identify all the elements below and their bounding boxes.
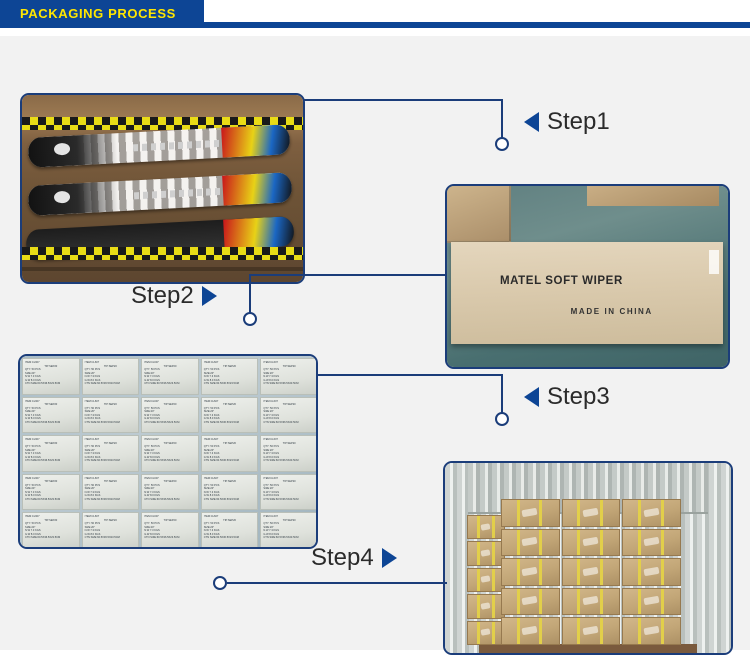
carton-unit: ITEM:CL607TIP:SEP20QTY: 50 PCSSIZE:20"N.… bbox=[260, 435, 318, 472]
wiper-blade-print bbox=[133, 140, 222, 152]
carton-unit: ITEM:CL607TIP:SEP20QTY: 50 PCSSIZE:20"N.… bbox=[22, 435, 80, 472]
triangle-left-icon bbox=[524, 387, 539, 407]
carton-unit: ITEM:CL607TIP:SEP20QTY: 50 PCSSIZE:20"N.… bbox=[141, 358, 199, 395]
diagram-canvas: MATEL SOFT WIPER MADE IN CHINA ITEM:CL60… bbox=[0, 36, 750, 650]
wiper-blade-nose bbox=[223, 216, 294, 250]
carton-grid: ITEM:CL607TIP:SEP20QTY: 50 PCSSIZE:20"N.… bbox=[22, 358, 318, 549]
carton-unit: ITEM:CL607TIP:SEP20QTY: 50 PCSSIZE:20"N.… bbox=[82, 435, 140, 472]
shipping-box bbox=[622, 588, 681, 616]
carton-label-line: CTN SIZE:60.5X36.5X23.5CM bbox=[204, 459, 256, 463]
background-carton-right bbox=[587, 186, 719, 206]
carton-unit: ITEM:CL607TIP:SEP20QTY: 50 PCSSIZE:20"N.… bbox=[82, 474, 140, 511]
carton-unit: ITEM:CL607TIP:SEP20QTY: 50 PCSSIZE:20"N.… bbox=[141, 435, 199, 472]
carton-label-line: CTN SIZE:60.5X36.5X23.5CM bbox=[263, 498, 315, 502]
carton-unit: ITEM:CL607TIP:SEP20QTY: 50 PCSSIZE:20"N.… bbox=[201, 512, 259, 549]
carton-label-line: CTN SIZE:60.5X36.5X23.5CM bbox=[85, 459, 137, 463]
carton-print-origin: MADE IN CHINA bbox=[571, 307, 653, 316]
photo-master-carton: MATEL SOFT WIPER MADE IN CHINA bbox=[445, 184, 730, 369]
carton-label-line: CTN SIZE:60.5X36.5X23.5CM bbox=[263, 459, 315, 463]
shipping-box-mark bbox=[480, 523, 490, 531]
shipping-box-mark bbox=[522, 626, 538, 636]
connector-4-horizontal bbox=[227, 582, 447, 584]
wiper-blade-tail bbox=[27, 181, 118, 216]
connector-node-2 bbox=[243, 312, 257, 326]
carton-unit: ITEM:CL607TIP:SEP20QTY: 50 PCSSIZE:20"N.… bbox=[22, 358, 80, 395]
carton-label-line: CTN SIZE:60.5X36.5X23.5CM bbox=[204, 421, 256, 425]
shipping-box-mark bbox=[583, 596, 599, 606]
connector-1-vertical bbox=[501, 99, 503, 140]
background-carton-left bbox=[447, 186, 511, 243]
header-rule bbox=[204, 22, 750, 28]
carton-unit: ITEM:CL607TIP:SEP20QTY: 50 PCSSIZE:20"N.… bbox=[260, 397, 318, 434]
carton-label-line: CTN SIZE:60.5X36.5X23.5CM bbox=[144, 536, 196, 540]
carton-label-line: CTN SIZE:60.5X36.5X23.5CM bbox=[263, 421, 315, 425]
carton-unit: ITEM:CL607TIP:SEP20QTY: 50 PCSSIZE:20"N.… bbox=[141, 397, 199, 434]
step-label-1: Step1 bbox=[524, 108, 610, 136]
shipping-box-mark bbox=[583, 567, 599, 577]
carton-label-line: CTN SIZE:60.5X36.5X23.5CM bbox=[263, 536, 315, 540]
shipping-box-mark bbox=[522, 567, 538, 577]
wiper-blade-tail bbox=[27, 133, 118, 168]
step-label-4: Step4 bbox=[311, 544, 397, 572]
shipping-box bbox=[622, 617, 681, 645]
carton-label-line: CTN SIZE:60.5X36.5X23.5CM bbox=[25, 498, 77, 502]
carton-unit: ITEM:CL607TIP:SEP20QTY: 50 PCSSIZE:20"N.… bbox=[22, 512, 80, 549]
carton-unit: ITEM:CL607TIP:SEP20QTY: 50 PCSSIZE:20"N.… bbox=[260, 358, 318, 395]
carton-unit: ITEM:CL607TIP:SEP20QTY: 50 PCSSIZE:20"N.… bbox=[141, 474, 199, 511]
shipping-box-mark bbox=[522, 596, 538, 606]
shipping-box bbox=[467, 568, 505, 592]
step-label-3-text: Step3 bbox=[547, 383, 610, 411]
carton-label-line: CTN SIZE:60.5X36.5X23.5CM bbox=[25, 382, 77, 386]
triangle-right-icon bbox=[202, 286, 217, 306]
shipping-box-mark bbox=[643, 626, 659, 636]
page-title: PACKAGING PROCESS bbox=[20, 4, 200, 24]
shipping-box-mark bbox=[583, 507, 599, 517]
carton-label-line: CTN SIZE:60.5X36.5X23.5CM bbox=[204, 536, 256, 540]
shipping-box bbox=[622, 529, 681, 557]
shipping-box-mark bbox=[583, 537, 599, 547]
wiper-blade-print bbox=[133, 188, 223, 200]
carton-label-line: CTN SIZE:60.5X36.5X23.5CM bbox=[263, 382, 315, 386]
shipping-box-stack-left bbox=[467, 515, 505, 645]
carton-unit: ITEM:CL607TIP:SEP20QTY: 50 PCSSIZE:20"N.… bbox=[22, 397, 80, 434]
photo-loaded-container bbox=[443, 461, 733, 655]
shipping-box bbox=[501, 588, 560, 616]
shipping-box-mark bbox=[643, 596, 659, 606]
connector-3-vertical bbox=[501, 374, 503, 415]
carton-unit: ITEM:CL607TIP:SEP20QTY: 50 PCSSIZE:20"N.… bbox=[260, 512, 318, 549]
shipping-box bbox=[562, 499, 621, 527]
shipping-box bbox=[562, 617, 621, 645]
carton-label-line: CTN SIZE:60.5X36.5X23.5CM bbox=[204, 382, 256, 386]
triangle-right-icon bbox=[382, 548, 397, 568]
shipping-box-mark bbox=[480, 602, 490, 610]
shipping-box-mark bbox=[522, 507, 538, 517]
shipping-box bbox=[501, 558, 560, 586]
shipping-box-stack-main bbox=[501, 499, 681, 645]
carton-label-line: CTN SIZE:60.5X36.5X23.5CM bbox=[85, 536, 137, 540]
wiper-blade-nose bbox=[221, 124, 291, 158]
carton-label-line: CTN SIZE:60.5X36.5X23.5CM bbox=[144, 382, 196, 386]
carton-unit: ITEM:CL607TIP:SEP20QTY: 50 PCSSIZE:20"N.… bbox=[201, 397, 259, 434]
shipping-box bbox=[622, 499, 681, 527]
carton-unit: ITEM:CL607TIP:SEP20QTY: 50 PCSSIZE:20"N.… bbox=[201, 435, 259, 472]
step-label-2: Step2 bbox=[131, 282, 217, 310]
connector-node-1 bbox=[495, 137, 509, 151]
step-label-4-text: Step4 bbox=[311, 544, 374, 572]
carton-label-line: CTN SIZE:60.5X36.5X23.5CM bbox=[85, 382, 137, 386]
shipping-box bbox=[501, 499, 560, 527]
carton-label-line: CTN SIZE:60.5X36.5X23.5CM bbox=[25, 421, 77, 425]
carton-label-line: CTN SIZE:60.5X36.5X23.5CM bbox=[85, 498, 137, 502]
carton-unit: ITEM:CL607TIP:SEP20QTY: 50 PCSSIZE:20"N.… bbox=[22, 474, 80, 511]
photo-stacked-cartons-image: ITEM:CL607TIP:SEP20QTY: 50 PCSSIZE:20"N.… bbox=[20, 356, 316, 547]
carton-unit: ITEM:CL607TIP:SEP20QTY: 50 PCSSIZE:20"N.… bbox=[141, 512, 199, 549]
wiper-blade-nose bbox=[223, 172, 293, 206]
connector-2-horizontal bbox=[249, 274, 447, 276]
checker-strip-bottom bbox=[22, 247, 303, 260]
step-label-2-text: Step2 bbox=[131, 282, 194, 310]
carton-unit: ITEM:CL607TIP:SEP20QTY: 50 PCSSIZE:20"N.… bbox=[201, 474, 259, 511]
triangle-left-icon bbox=[524, 112, 539, 132]
shipping-box-mark bbox=[583, 626, 599, 636]
carton-unit: ITEM:CL607TIP:SEP20QTY: 50 PCSSIZE:20"N.… bbox=[82, 397, 140, 434]
connector-2-vertical bbox=[249, 274, 251, 315]
shipping-box bbox=[562, 529, 621, 557]
carton-label-line: CTN SIZE:60.5X36.5X23.5CM bbox=[144, 421, 196, 425]
carton-label-line: CTN SIZE:60.5X36.5X23.5CM bbox=[144, 459, 196, 463]
carton-unit: ITEM:CL607TIP:SEP20QTY: 50 PCSSIZE:20"N.… bbox=[82, 358, 140, 395]
photo-master-carton-image: MATEL SOFT WIPER MADE IN CHINA bbox=[447, 186, 728, 367]
shipping-box-mark bbox=[480, 628, 490, 636]
carton-label-line: CTN SIZE:60.5X36.5X23.5CM bbox=[25, 536, 77, 540]
carton-unit: ITEM:CL607TIP:SEP20QTY: 50 PCSSIZE:20"N.… bbox=[201, 358, 259, 395]
carton-unit: ITEM:CL607TIP:SEP20QTY: 50 PCSSIZE:20"N.… bbox=[260, 474, 318, 511]
shipping-box-mark bbox=[522, 537, 538, 547]
shipping-box bbox=[562, 588, 621, 616]
shipping-box bbox=[467, 541, 505, 565]
photo-loaded-container-image bbox=[445, 463, 731, 653]
carton-label-line: CTN SIZE:60.5X36.5X23.5CM bbox=[85, 421, 137, 425]
connector-1-horizontal bbox=[303, 99, 503, 101]
master-carton: MATEL SOFT WIPER MADE IN CHINA bbox=[451, 242, 723, 344]
carton-label-line: CTN SIZE:60.5X36.5X23.5CM bbox=[144, 498, 196, 502]
photo-stacked-cartons: ITEM:CL607TIP:SEP20QTY: 50 PCSSIZE:20"N.… bbox=[18, 354, 318, 549]
step-label-3: Step3 bbox=[524, 383, 610, 411]
shipping-box-mark bbox=[643, 507, 659, 517]
shipping-box bbox=[622, 558, 681, 586]
shipping-box bbox=[467, 515, 505, 539]
step-label-1-text: Step1 bbox=[547, 108, 610, 136]
connector-node-4 bbox=[213, 576, 227, 590]
photo-wiper-blades bbox=[20, 93, 305, 284]
carton-unit: ITEM:CL607TIP:SEP20QTY: 50 PCSSIZE:20"N.… bbox=[82, 512, 140, 549]
shipping-box bbox=[501, 529, 560, 557]
shipping-box bbox=[501, 617, 560, 645]
shipping-box-mark bbox=[480, 576, 490, 584]
shipping-box-mark bbox=[480, 549, 490, 557]
shipping-box-mark bbox=[643, 567, 659, 577]
shipping-box-mark bbox=[643, 537, 659, 547]
carton-label-line: CTN SIZE:60.5X36.5X23.5CM bbox=[25, 459, 77, 463]
connector-3-horizontal bbox=[316, 374, 503, 376]
carton-label-line: CTN SIZE:60.5X36.5X23.5CM bbox=[204, 498, 256, 502]
shipping-box bbox=[562, 558, 621, 586]
shipping-box bbox=[467, 594, 505, 618]
connector-node-3 bbox=[495, 412, 509, 426]
photo-wiper-blades-image bbox=[22, 95, 303, 282]
shipping-box bbox=[467, 621, 505, 645]
packaging-process-page: PACKAGING PROCESS bbox=[0, 0, 750, 650]
carton-tape bbox=[709, 250, 719, 274]
carton-print-brand: MATEL SOFT WIPER bbox=[500, 275, 623, 287]
